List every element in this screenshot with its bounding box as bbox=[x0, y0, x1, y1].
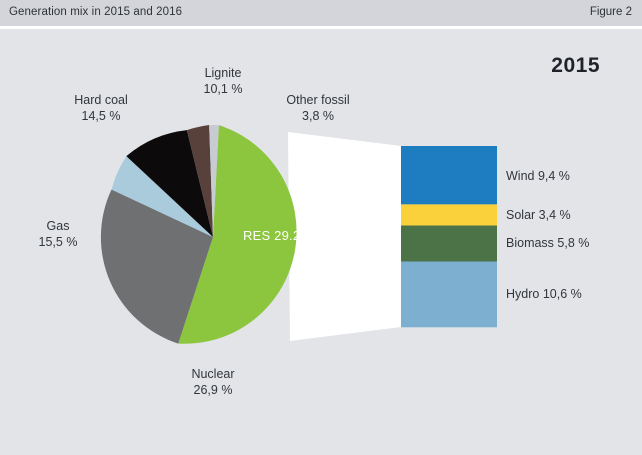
bar-legend-biomass: Biomass 5,8 % bbox=[506, 236, 589, 250]
chart-stage: Hard coal 14,5 % Lignite 10,1 % Other fo… bbox=[0, 29, 642, 455]
bar-segment-solar[interactable] bbox=[401, 204, 497, 225]
pie-label-lignite: Lignite 10,1 % bbox=[176, 65, 270, 97]
pie-label-other-fossil: Other fossil 3,8 % bbox=[263, 92, 373, 124]
pie-label-gas: Gas 26,9 % 15,5 % bbox=[18, 218, 98, 250]
pie-label-other-fossil-value: 3,8 % bbox=[263, 108, 373, 124]
pie-label-lignite-name: Lignite bbox=[176, 65, 270, 81]
bar-segment-hydro[interactable] bbox=[401, 262, 497, 328]
pie-label-res: RES 29.2 % bbox=[243, 228, 316, 243]
bar-legend-wind: Wind 9,4 % bbox=[506, 169, 570, 183]
figure-container: Generation mix in 2015 and 2016 Figure 2… bbox=[0, 0, 642, 455]
pie-label-nuclear-value: 26,9 % bbox=[145, 382, 281, 398]
res-breakout-bar bbox=[401, 146, 497, 327]
figure-title: Generation mix in 2015 and 2016 bbox=[9, 6, 182, 18]
pie-label-other-fossil-name: Other fossil bbox=[263, 92, 373, 108]
bar-segment-wind[interactable] bbox=[401, 146, 497, 204]
figure-number-label: Figure 2 bbox=[590, 6, 632, 18]
pie-label-gas-name: Gas bbox=[18, 218, 98, 234]
pie-label-nuclear: Nuclear 26,9 % bbox=[145, 366, 281, 398]
pie-label-hard-coal-name: Hard coal bbox=[46, 92, 156, 108]
bar-legend-solar: Solar 3,4 % bbox=[506, 208, 571, 222]
pie-label-hard-coal: Hard coal 14,5 % bbox=[46, 92, 156, 124]
pie-label-nuclear-name: Nuclear bbox=[145, 366, 281, 382]
figure-header-bar: Generation mix in 2015 and 2016 Figure 2 bbox=[0, 0, 642, 26]
pie-label-hard-coal-value: 14,5 % bbox=[46, 108, 156, 124]
pie-label-lignite-value: 10,1 % bbox=[176, 81, 270, 97]
pie-label-gas-value-real: 15,5 % bbox=[18, 234, 98, 250]
bar-segment-biomass[interactable] bbox=[401, 226, 497, 262]
bar-legend-hydro: Hydro 10,6 % bbox=[506, 287, 582, 301]
